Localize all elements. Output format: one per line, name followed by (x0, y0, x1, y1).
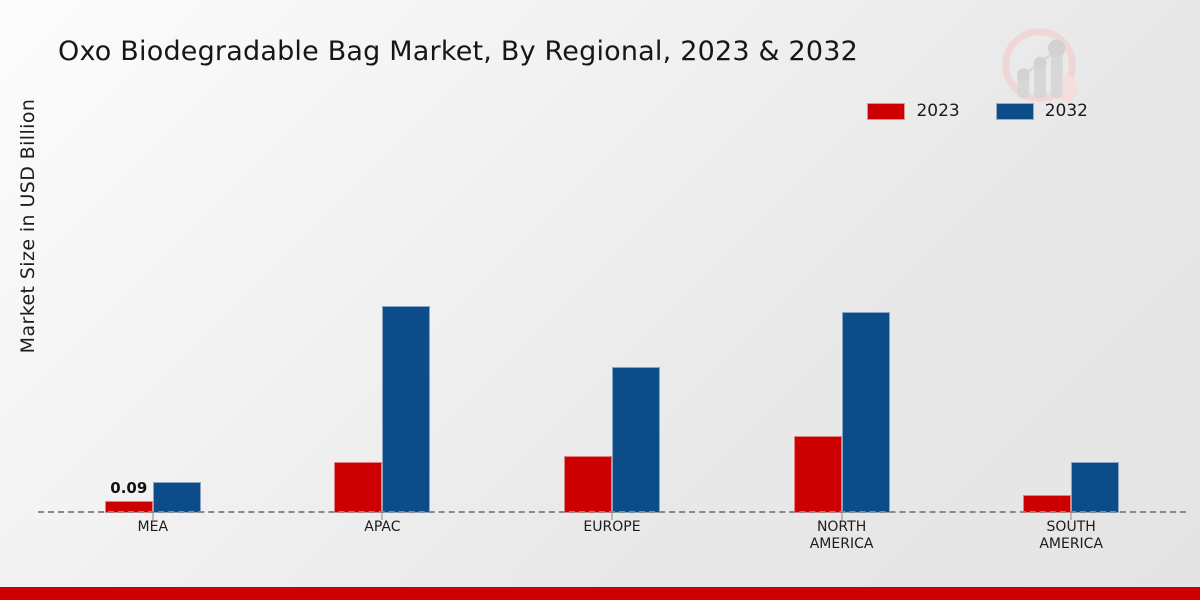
bar-pair (334, 306, 430, 513)
bar-2023-apac[interactable] (334, 462, 382, 513)
legend-item-2032[interactable]: 2032 (996, 103, 1088, 120)
bar-group-north-america (727, 150, 957, 513)
x-axis-baseline (38, 511, 1186, 513)
x-label-north-america: NORTH AMERICA (727, 519, 957, 553)
bar-2032-apac[interactable] (382, 306, 430, 513)
x-label-south-america: SOUTH AMERICA (956, 519, 1186, 553)
bar-2032-south-america[interactable] (1071, 462, 1119, 513)
x-label-line: MEA (38, 519, 268, 536)
plot-area: 0.09 (38, 150, 1186, 513)
bar-2023-europe[interactable] (564, 456, 612, 513)
chart-title: Oxo Biodegradable Bag Market, By Regiona… (58, 36, 858, 67)
legend-label-2032: 2032 (1045, 103, 1088, 120)
x-label-apac: APAC (268, 519, 498, 553)
legend-swatch-2032 (996, 103, 1034, 120)
legend-swatch-2023 (867, 103, 905, 120)
bar-groups: 0.09 (38, 150, 1186, 513)
bar-2032-europe[interactable] (612, 367, 660, 513)
y-axis-title: Market Size in USD Billion (17, 46, 39, 406)
x-label-mea: MEA (38, 519, 268, 553)
legend-label-2023: 2023 (916, 103, 959, 120)
x-label-europe: EUROPE (497, 519, 727, 553)
chart-container: Oxo Biodegradable Bag Market, By Regiona… (0, 0, 1200, 600)
bar-pair: 0.09 (105, 482, 201, 513)
bar-2023-north-america[interactable] (794, 436, 842, 513)
bar-group-europe (497, 150, 727, 513)
x-label-line: NORTH (727, 519, 957, 536)
bar-2032-mea[interactable] (153, 482, 201, 513)
x-axis-labels: MEA APAC EUROPE NORTH AMERICA SOUTH AMER… (38, 519, 1186, 553)
chart-legend: 2023 2032 (867, 103, 1088, 120)
x-label-line: AMERICA (956, 536, 1186, 553)
bar-pair (564, 367, 660, 513)
bar-2032-north-america[interactable] (842, 312, 890, 513)
bar-group-south-america (956, 150, 1186, 513)
x-label-line: APAC (268, 519, 498, 536)
x-label-line: EUROPE (497, 519, 727, 536)
bar-pair (794, 312, 890, 513)
x-label-line: AMERICA (727, 536, 957, 553)
legend-item-2023[interactable]: 2023 (867, 103, 959, 120)
bar-group-apac (268, 150, 498, 513)
bar-group-mea: 0.09 (38, 150, 268, 513)
bar-pair (1023, 462, 1119, 513)
footer-accent-bar (0, 587, 1200, 600)
x-label-line: SOUTH (956, 519, 1186, 536)
bar-value-label: 0.09 (110, 479, 147, 497)
